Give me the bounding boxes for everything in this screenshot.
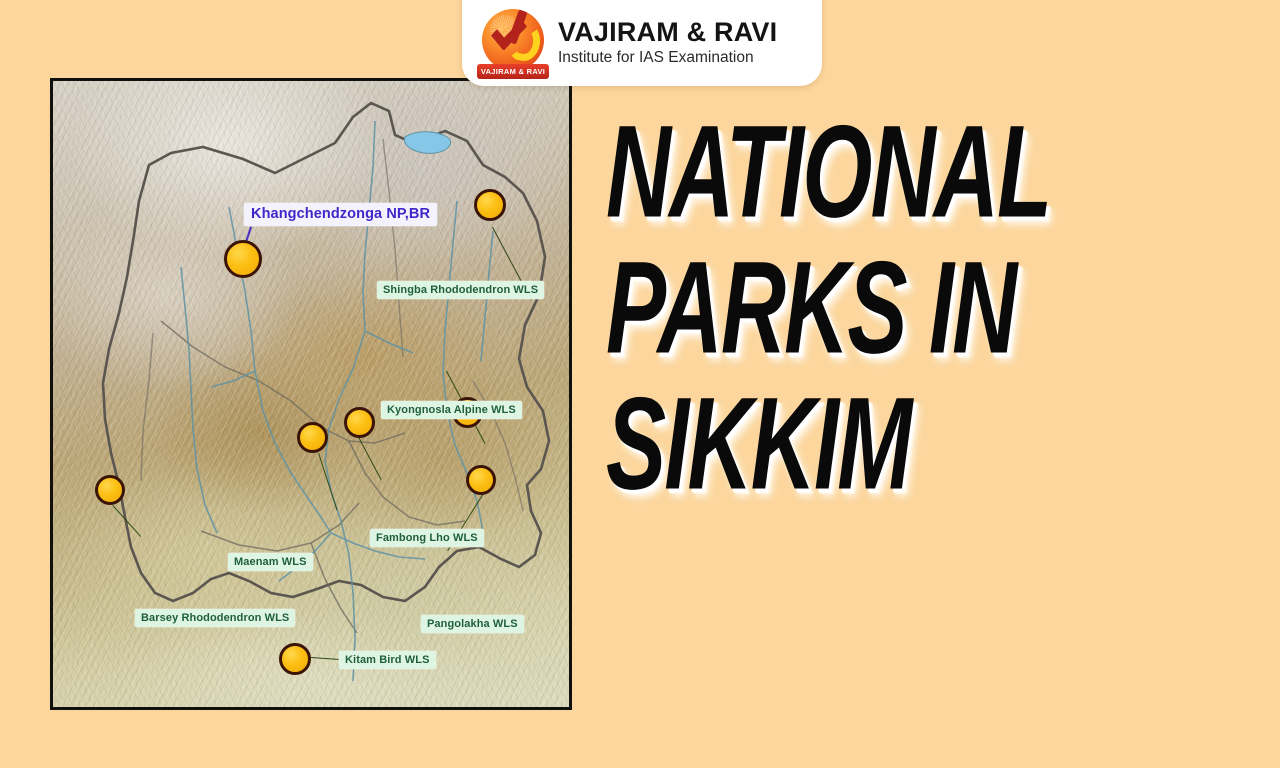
marker-fambong-lho[interactable] xyxy=(344,407,375,438)
poster-title: NATIONAL PARKS IN SIKKIM xyxy=(606,108,1246,668)
map-label-shingba-rhododendron: Shingba Rhododendron WLS xyxy=(377,281,544,299)
brand-text-group: VAJIRAM & RAVI Institute for IAS Examina… xyxy=(558,18,777,68)
sikkim-map: Khangchendzonga NP,BR Shingba Rhododendr… xyxy=(50,78,572,710)
vajiram-ravi-logo-icon: VAJIRAM & RAVI xyxy=(476,5,550,81)
marker-kitam-bird[interactable] xyxy=(279,643,311,675)
poster-canvas: Khangchendzonga NP,BR Shingba Rhododendr… xyxy=(0,0,1280,768)
marker-pangolakha[interactable] xyxy=(466,465,496,495)
marker-maenam[interactable] xyxy=(297,422,328,453)
brand-name: VAJIRAM & RAVI xyxy=(558,18,777,46)
brand-logo-badge: VAJIRAM & RAVI VAJIRAM & RAVI Institute … xyxy=(462,0,822,86)
marker-khangchendzonga[interactable] xyxy=(224,240,262,278)
district-boundary-line xyxy=(201,503,359,551)
marker-barsey-rhododendron[interactable] xyxy=(95,475,125,505)
title-line-3: SIKKIM xyxy=(606,380,1195,506)
map-label-pangolakha: Pangolakha WLS xyxy=(421,615,524,633)
district-boundary-line xyxy=(141,333,153,481)
brand-tagline: Institute for IAS Examination xyxy=(558,48,777,68)
logo-ribbon-label: VAJIRAM & RAVI xyxy=(477,64,549,79)
map-label-khangchendzonga: Khangchendzonga NP,BR xyxy=(244,203,437,226)
map-label-barsey-rhododendron: Barsey Rhododendron WLS xyxy=(135,609,295,627)
district-boundary-line xyxy=(383,139,403,357)
lake-shape xyxy=(404,132,450,154)
map-label-kyongnosla-alpine: Kyongnosla Alpine WLS xyxy=(381,401,522,419)
title-line-2: PARKS IN xyxy=(606,244,1195,370)
marker-shingba-rhododendron[interactable] xyxy=(474,189,506,221)
map-label-maenam: Maenam WLS xyxy=(228,553,313,571)
map-label-fambong-lho: Fambong Lho WLS xyxy=(370,529,484,547)
map-label-kitam-bird: Kitam Bird WLS xyxy=(339,651,436,669)
title-line-1: NATIONAL xyxy=(606,108,1195,234)
map-vector-layer xyxy=(53,81,569,707)
